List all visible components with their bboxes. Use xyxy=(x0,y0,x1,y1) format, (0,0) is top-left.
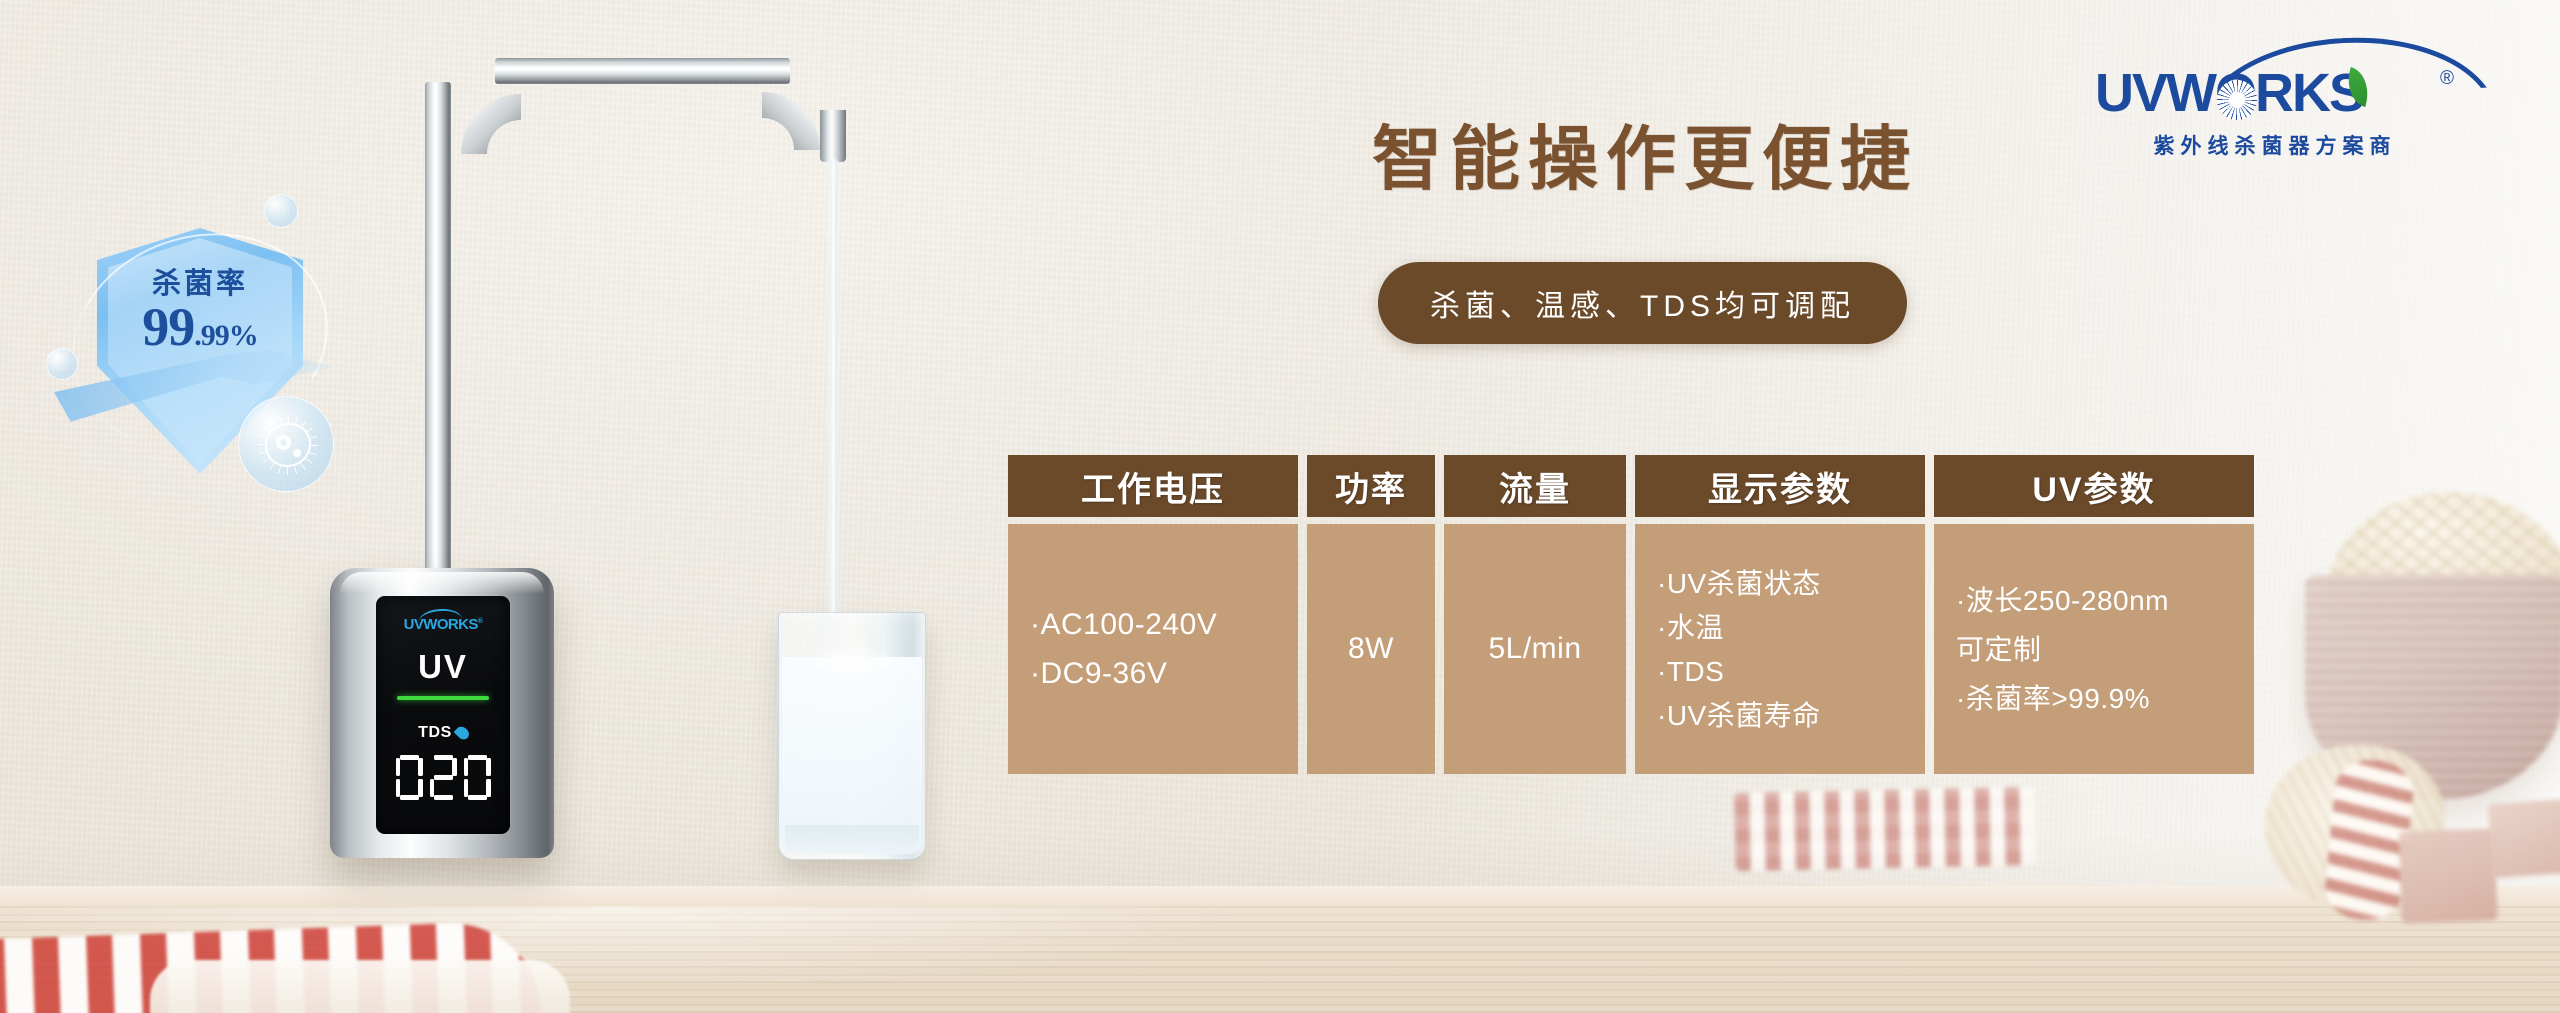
seven-segment-digit xyxy=(396,755,423,800)
spec-line: ·UV杀菌寿命 xyxy=(1657,698,1821,733)
device-mode-label: UV xyxy=(418,650,468,683)
faucet-horizontal-arm xyxy=(495,58,790,84)
spec-column-uv: UV参数 ·波长250-280nm 可定制 ·杀菌率>99.9% xyxy=(1934,455,2254,774)
device-screen-brand: UVWORKS® xyxy=(404,616,483,633)
spec-body: ·AC100-240V ·DC9-36V xyxy=(1008,524,1298,774)
spec-line: ·TDS xyxy=(1657,654,1724,689)
device-tds-label: TDS xyxy=(418,724,452,742)
sterilization-rate-badge: 杀菌率 99.99% xyxy=(42,178,378,522)
bubble-icon xyxy=(264,194,298,228)
badge-value-minor: .99% xyxy=(194,319,258,352)
spec-line: ·波长250-280nm xyxy=(1956,583,2169,618)
device-display-screen: UVWORKS® UV TDS xyxy=(376,596,510,834)
spec-header: UV参数 xyxy=(1934,455,2254,517)
spec-header: 功率 xyxy=(1307,455,1435,517)
spec-line: ·DC9-36V xyxy=(1030,655,1167,693)
spec-column-display: 显示参数 ·UV杀菌状态 ·水温 ·TDS ·UV杀菌寿命 xyxy=(1635,455,1925,774)
badge-value-major: 99 xyxy=(142,297,194,357)
water-drop-icon xyxy=(454,724,472,742)
badge-text-group: 杀菌率 99.99% xyxy=(97,260,303,354)
device-screen-brand-mark: ® xyxy=(478,618,483,625)
plate-decor xyxy=(150,960,570,1013)
spec-line: ·杀菌率>99.9% xyxy=(1956,681,2150,716)
spec-line: ·UV杀菌状态 xyxy=(1657,566,1821,601)
banner-scene: UVWORKS® UV TDS xyxy=(0,0,2560,1013)
subtitle-pill: 杀菌、温感、TDS均可调配 xyxy=(1378,262,1907,344)
logo-starburst-center xyxy=(2229,92,2245,108)
checkered-cloth-decor xyxy=(1734,787,2036,871)
water-stream xyxy=(828,158,839,618)
brand-wordmark: UVWORKS xyxy=(2095,66,2455,120)
brand-logo: UVWORKS ® 紫外线杀菌器方案商 xyxy=(2095,36,2495,156)
device-status-bar xyxy=(397,696,489,700)
specification-table: 工作电压 ·AC100-240V ·DC9-36V 功率 8W 流量 5L/mi… xyxy=(1008,455,2254,774)
wood-block-decor-1 xyxy=(2398,828,2497,923)
faucet-spout xyxy=(820,110,846,162)
device-top-highlight xyxy=(340,572,544,594)
uv-sterilizer-device: UVWORKS® UV TDS xyxy=(330,568,554,858)
spec-column-flow: 流量 5L/min xyxy=(1444,455,1626,774)
bubble-icon xyxy=(46,348,78,380)
spec-body: ·波长250-280nm 可定制 ·杀菌率>99.9% xyxy=(1934,524,2254,774)
badge-value: 99.99% xyxy=(97,300,303,354)
seven-segment-digit xyxy=(430,755,457,800)
seven-segment-digit xyxy=(464,755,491,800)
spec-line: 5L/min xyxy=(1488,630,1581,668)
germ-bubble xyxy=(238,396,334,492)
spec-line: 8W xyxy=(1348,630,1394,668)
spec-column-voltage: 工作电压 ·AC100-240V ·DC9-36V xyxy=(1008,455,1298,774)
water-glass xyxy=(778,612,926,860)
wood-block-decor-2 xyxy=(2488,796,2560,878)
faucet-vertical-stem xyxy=(425,82,451,582)
spec-line: ·AC100-240V xyxy=(1030,606,1217,644)
device-tds-row: TDS xyxy=(418,724,468,742)
spec-line: ·水温 xyxy=(1657,610,1724,645)
spec-header: 流量 xyxy=(1444,455,1626,517)
spec-line: 可定制 xyxy=(1956,632,2042,667)
water-splash xyxy=(807,643,899,673)
spec-header: 工作电压 xyxy=(1008,455,1298,517)
spec-header: 显示参数 xyxy=(1635,455,1925,517)
page-title: 智能操作更便捷 xyxy=(1372,124,2032,198)
spec-body: ·UV杀菌状态 ·水温 ·TDS ·UV杀菌寿命 xyxy=(1635,524,1925,774)
spec-body: 8W xyxy=(1307,524,1435,774)
badge-label: 杀菌率 xyxy=(97,260,303,302)
brand-tagline: 紫外线杀菌器方案商 xyxy=(2097,130,2453,160)
spec-column-power: 功率 8W xyxy=(1307,455,1435,774)
registered-trademark-icon: ® xyxy=(2440,68,2454,90)
device-tds-value xyxy=(396,755,491,800)
glass-base xyxy=(785,825,919,853)
spec-body: 5L/min xyxy=(1444,524,1626,774)
